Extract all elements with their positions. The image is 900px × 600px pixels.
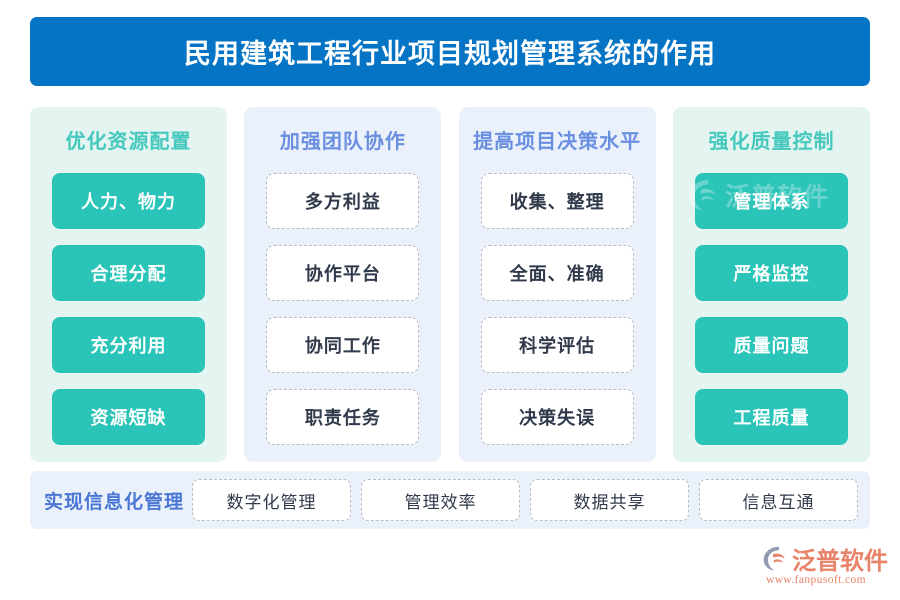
bottom-bar-item[interactable]: 数字化管理: [192, 479, 351, 521]
pillar-item[interactable]: 质量问题: [695, 317, 848, 373]
infographic-root: 民用建筑工程行业项目规划管理系统的作用 优化资源配置人力、物力合理分配充分利用资…: [0, 0, 900, 600]
pillar-item[interactable]: 严格监控: [695, 245, 848, 301]
pillar-item[interactable]: 人力、物力: [52, 173, 205, 229]
pillar-item-list: 人力、物力合理分配充分利用资源短缺: [30, 173, 227, 445]
brand-name: 泛普软件: [792, 541, 888, 576]
pillar-item[interactable]: 决策失误: [481, 389, 634, 445]
pillar-item[interactable]: 资源短缺: [52, 389, 205, 445]
pillar-item[interactable]: 合理分配: [52, 245, 205, 301]
bottom-summary-bar: 实现信息化管理 数字化管理管理效率数据共享信息互通: [30, 471, 870, 529]
pillar-column-4: 强化质量控制管理体系严格监控质量问题工程质量泛普软件: [673, 107, 870, 462]
pillar-column-header: 优化资源配置: [66, 125, 192, 154]
bottom-bar-item[interactable]: 信息互通: [699, 479, 858, 521]
pillar-column-3: 提高项目决策水平收集、整理全面、准确科学评估决策失误: [459, 107, 656, 462]
bottom-bar-item[interactable]: 数据共享: [530, 479, 689, 521]
pillar-column-header: 提高项目决策水平: [473, 125, 641, 154]
fanpu-logo-icon: [762, 545, 789, 572]
page-title: 民用建筑工程行业项目规划管理系统的作用: [184, 32, 716, 71]
pillar-item[interactable]: 协作平台: [266, 245, 419, 301]
brand-row: 泛普软件: [762, 543, 894, 573]
brand-logo: 泛普软件 www.fanpusoft.com: [762, 543, 894, 591]
pillar-item-list: 多方利益协作平台协同工作职责任务: [244, 173, 441, 445]
title-banner: 民用建筑工程行业项目规划管理系统的作用: [30, 17, 870, 86]
pillar-item[interactable]: 收集、整理: [481, 173, 634, 229]
pillar-column-header: 强化质量控制: [708, 125, 834, 154]
pillar-column-1: 优化资源配置人力、物力合理分配充分利用资源短缺: [30, 107, 227, 462]
pillar-item[interactable]: 管理体系: [695, 173, 848, 229]
pillar-columns: 优化资源配置人力、物力合理分配充分利用资源短缺加强团队协作多方利益协作平台协同工…: [30, 107, 870, 462]
pillar-item[interactable]: 全面、准确: [481, 245, 634, 301]
pillar-column-2: 加强团队协作多方利益协作平台协同工作职责任务: [244, 107, 441, 462]
bottom-bar-label: 实现信息化管理: [44, 487, 184, 514]
bottom-bar-item[interactable]: 管理效率: [361, 479, 520, 521]
pillar-column-header: 加强团队协作: [280, 125, 406, 154]
pillar-item[interactable]: 多方利益: [266, 173, 419, 229]
pillar-item-list: 收集、整理全面、准确科学评估决策失误: [459, 173, 656, 445]
pillar-item[interactable]: 工程质量: [695, 389, 848, 445]
pillar-item[interactable]: 充分利用: [52, 317, 205, 373]
pillar-item[interactable]: 协同工作: [266, 317, 419, 373]
pillar-item[interactable]: 职责任务: [266, 389, 419, 445]
bottom-pill-list: 数字化管理管理效率数据共享信息互通: [192, 479, 858, 521]
pillar-item[interactable]: 科学评估: [481, 317, 634, 373]
pillar-item-list: 管理体系严格监控质量问题工程质量: [673, 173, 870, 445]
brand-url: www.fanpusoft.com: [766, 574, 894, 586]
